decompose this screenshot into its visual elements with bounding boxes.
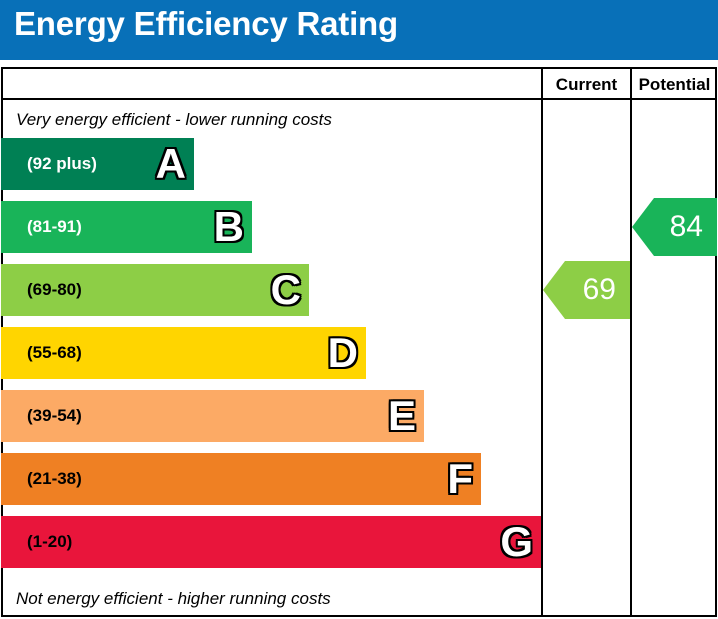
rating-band-b: (81-91) B — [1, 201, 252, 253]
column-header-current: Current — [543, 73, 630, 97]
rating-band-c-range: (69-80) — [27, 280, 82, 300]
rating-band-f-letter: F — [447, 458, 473, 500]
rating-band-g-range: (1-20) — [27, 532, 72, 552]
column-divider-potential — [630, 67, 632, 617]
rating-band-e-letter: E — [388, 395, 416, 437]
rating-band-g-letter: G — [500, 521, 533, 563]
rating-band-e: (39-54) E — [1, 390, 424, 442]
rating-band-a-letter: A — [156, 143, 186, 185]
rating-band-d: (55-68) D — [1, 327, 366, 379]
chart-title-banner: Energy Efficiency Rating — [0, 0, 718, 60]
caption-not-energy-efficient: Not energy efficient - higher running co… — [16, 589, 331, 609]
caption-very-energy-efficient: Very energy efficient - lower running co… — [16, 110, 332, 130]
rating-band-f-range: (21-38) — [27, 469, 82, 489]
current-rating-value: 69 — [583, 275, 616, 305]
page-title: Energy Efficiency Rating — [14, 5, 398, 43]
rating-band-e-range: (39-54) — [27, 406, 82, 426]
header-row-divider — [1, 98, 717, 100]
rating-band-a-range: (92 plus) — [27, 154, 97, 174]
rating-band-c: (69-80) C — [1, 264, 309, 316]
rating-band-g: (1-20) G — [1, 516, 541, 568]
column-header-potential: Potential — [632, 73, 717, 97]
rating-band-d-range: (55-68) — [27, 343, 82, 363]
rating-band-a: (92 plus) A — [1, 138, 194, 190]
rating-band-b-letter: B — [214, 206, 244, 248]
rating-band-b-range: (81-91) — [27, 217, 82, 237]
column-divider-current — [541, 67, 543, 617]
rating-band-f: (21-38) F — [1, 453, 481, 505]
potential-rating-value: 84 — [670, 212, 703, 242]
rating-band-c-letter: C — [271, 269, 301, 311]
rating-band-d-letter: D — [328, 332, 358, 374]
energy-efficiency-rating-chart: Energy Efficiency Rating Current Potenti… — [0, 0, 718, 619]
